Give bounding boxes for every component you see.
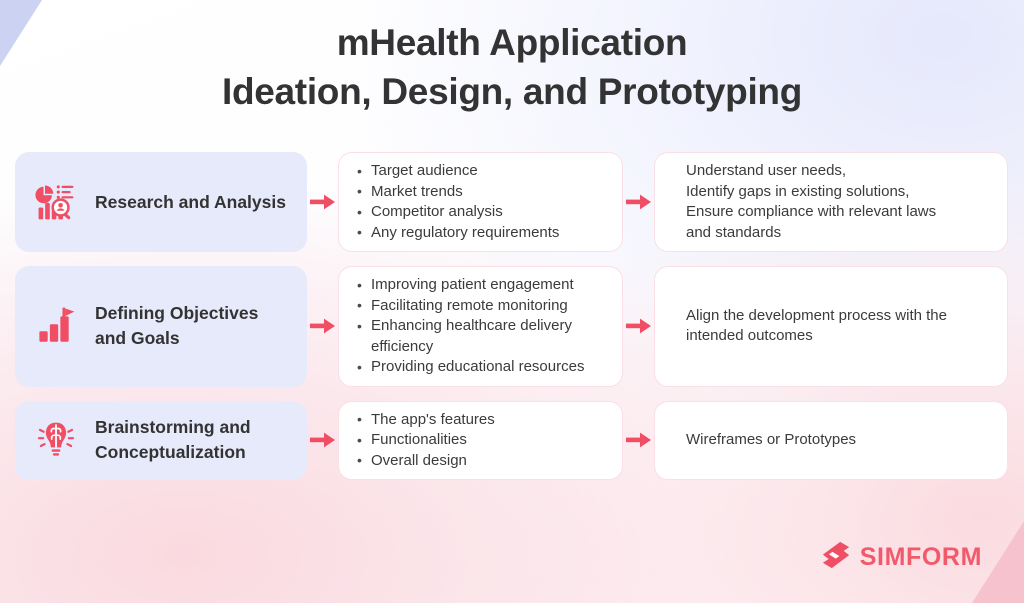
arrow-connector (623, 266, 654, 387)
bullet-list: Improving patient engagement Facilitatin… (355, 275, 608, 378)
list-item: Providing educational resources (355, 357, 608, 378)
title-line-2: Ideation, Design, and Prototyping (0, 67, 1024, 116)
arrow-right-icon (310, 432, 336, 448)
list-item: Enhancing healthcare delivery efficiency (355, 316, 608, 357)
arrow-right-icon (626, 194, 652, 210)
list-item: Improving patient engagement (355, 275, 608, 296)
arrow-connector (307, 401, 338, 481)
outcome-text: Align the development process with the i… (686, 306, 989, 347)
outcome-text: Wireframes or Prototypes (686, 430, 989, 451)
stage-label-text: Research and Analysis (95, 190, 286, 215)
outcome-line: Wireframes or Prototypes (686, 430, 989, 451)
outcome-line: Identify gaps in existing solutions, (686, 182, 989, 203)
goal-bar-chart-flag-icon (33, 303, 79, 349)
list-item: Facilitating remote monitoring (355, 296, 608, 317)
arrow-connector (623, 401, 654, 481)
arrow-right-icon (626, 318, 652, 334)
stage-outcome-box: Align the development process with the i… (654, 266, 1008, 387)
list-item: Competitor analysis (355, 202, 608, 223)
list-item: Overall design (355, 451, 608, 472)
infographic-canvas: mHealth Application Ideation, Design, an… (0, 0, 1024, 603)
bullet-list: Target audience Market trends Competitor… (355, 161, 608, 243)
arrow-right-icon (626, 432, 652, 448)
outcome-text: Understand user needs, Identify gaps in … (686, 161, 989, 243)
bullet-list: The app's features Functionalities Overa… (355, 410, 608, 472)
arrow-connector (623, 152, 654, 252)
outcome-line: Align the development process with the (686, 306, 989, 327)
list-item: The app's features (355, 410, 608, 431)
arrow-connector (307, 266, 338, 387)
outcome-line: intended outcomes (686, 326, 989, 347)
stage-label-text: Brainstorming and Conceptualization (95, 415, 293, 465)
list-item: Market trends (355, 182, 608, 203)
list-item: Target audience (355, 161, 608, 182)
process-row: Research and Analysis Target audience Ma… (15, 152, 1009, 252)
research-analytics-icon (33, 179, 79, 225)
stage-label-defining-objectives-and-goals[interactable]: Defining Objectives and Goals (15, 266, 307, 387)
simform-s-mark-icon (821, 540, 851, 575)
stage-outcome-box: Understand user needs, Identify gaps in … (654, 152, 1008, 252)
title-line-1: mHealth Application (0, 18, 1024, 67)
list-item: Any regulatory requirements (355, 223, 608, 244)
outcome-line: Understand user needs, (686, 161, 989, 182)
arrow-right-icon (310, 318, 336, 334)
process-row: Defining Objectives and Goals Improving … (15, 266, 1009, 387)
arrow-right-icon (310, 194, 336, 210)
outcome-line: Ensure compliance with relevant laws (686, 202, 989, 223)
stage-label-research-and-analysis[interactable]: Research and Analysis (15, 152, 307, 252)
process-grid: Research and Analysis Target audience Ma… (15, 152, 1009, 480)
stage-inputs-box: Improving patient engagement Facilitatin… (338, 266, 623, 387)
page-title: mHealth Application Ideation, Design, an… (0, 18, 1024, 116)
stage-inputs-box: Target audience Market trends Competitor… (338, 152, 623, 252)
stage-label-text: Defining Objectives and Goals (95, 301, 293, 351)
list-item: Functionalities (355, 430, 608, 451)
simform-logo[interactable]: SIMFORM (821, 540, 982, 575)
stage-outcome-box: Wireframes or Prototypes (654, 401, 1008, 481)
outcome-line: and standards (686, 223, 989, 244)
arrow-connector (307, 152, 338, 252)
simform-logo-text: SIMFORM (860, 543, 982, 572)
stage-inputs-box: The app's features Functionalities Overa… (338, 401, 623, 481)
stage-label-brainstorming-and-conceptualization[interactable]: Brainstorming and Conceptualization (15, 401, 307, 481)
process-row: Brainstorming and Conceptualization The … (15, 401, 1009, 481)
brain-lightbulb-icon (33, 417, 79, 463)
